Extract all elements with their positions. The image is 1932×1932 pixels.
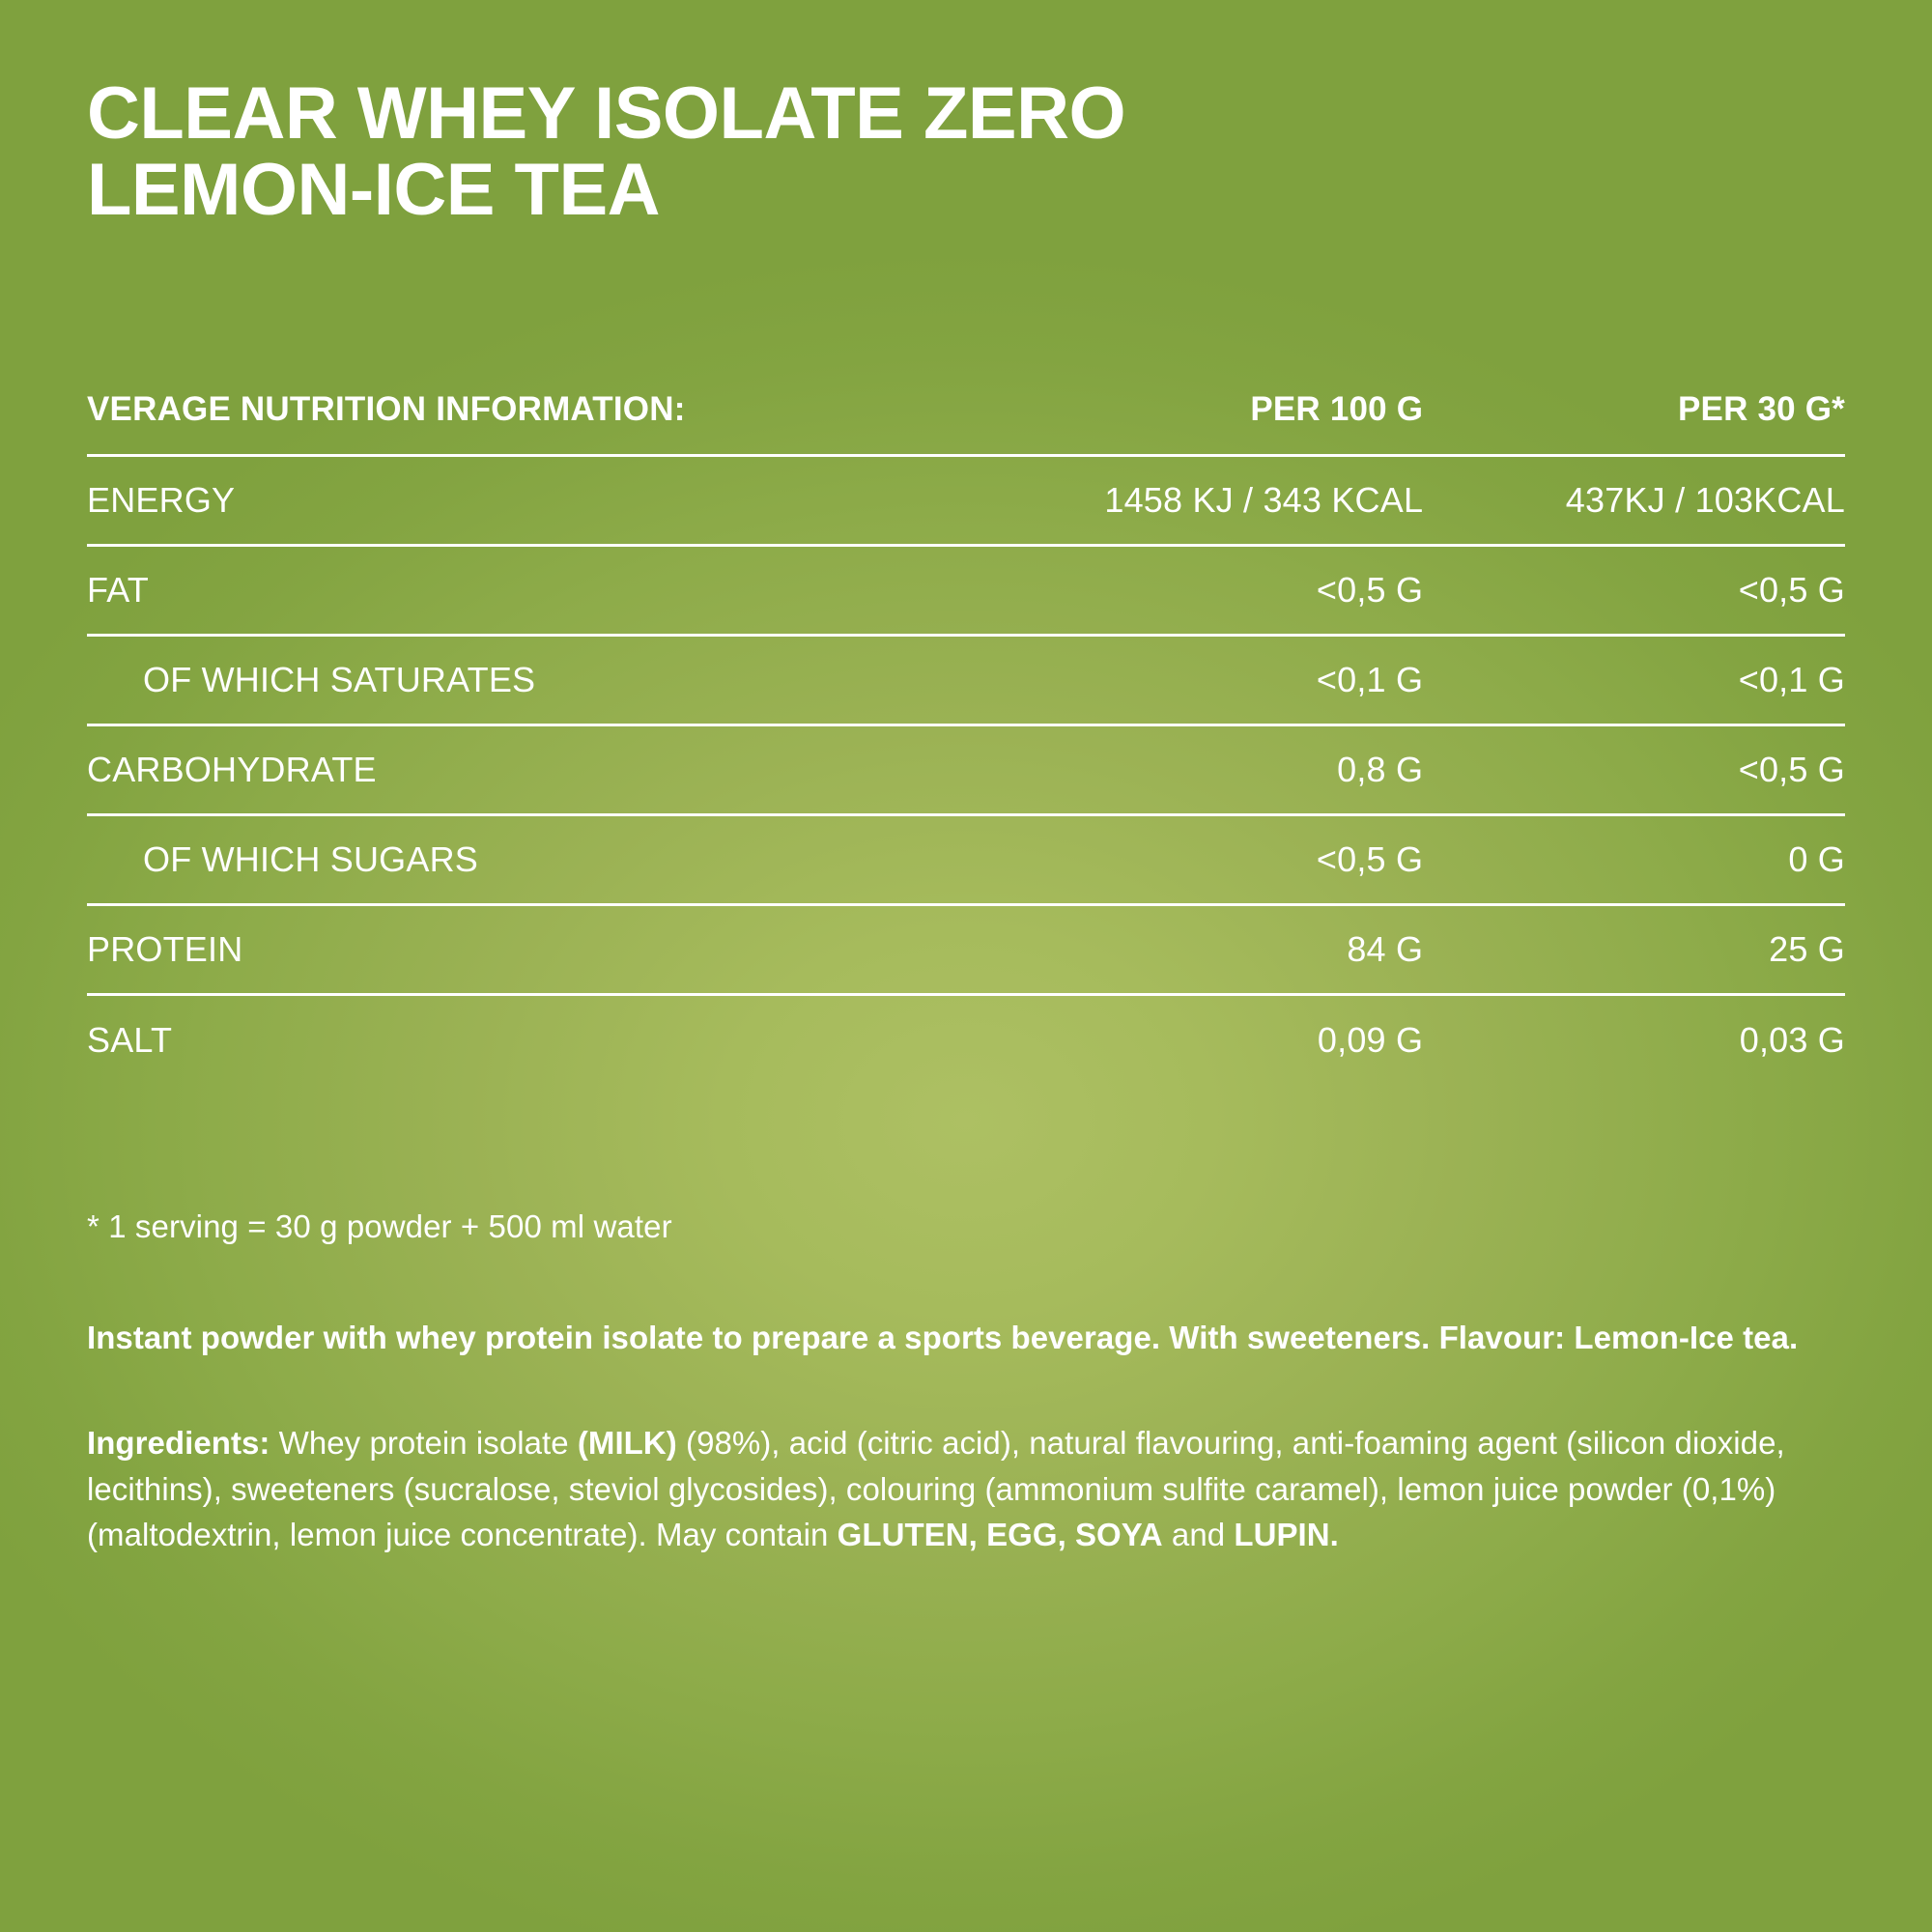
nutrition-table: VERAGE NUTRITION INFORMATION: PER 100 G … [87, 390, 1845, 1085]
nutrient-name: SALT [87, 995, 1001, 1085]
nutrient-value-per-serving: <0,5 G [1423, 546, 1845, 636]
serving-note: * 1 serving = 30 g powder + 500 ml water [87, 1208, 1845, 1245]
nutrition-label-panel: CLEAR WHEY ISOLATE ZERO LEMON-ICE TEA VE… [0, 0, 1932, 1932]
nutrient-name: ENERGY [87, 456, 1001, 546]
nutrient-value-per-100g: 0,8 G [1001, 725, 1423, 815]
ingredient-text: and [1163, 1517, 1235, 1552]
ingredient-emphasis: GLUTEN, EGG, SOYA [838, 1517, 1163, 1552]
column-header-per-serving: PER 30 G* [1423, 390, 1845, 456]
nutrient-name: PROTEIN [87, 905, 1001, 995]
table-header-row: VERAGE NUTRITION INFORMATION: PER 100 G … [87, 390, 1845, 456]
nutrient-value-per-serving: 25 G [1423, 905, 1845, 995]
table-row: PROTEIN84 G25 G [87, 905, 1845, 995]
nutrition-table-body: ENERGY1458 KJ / 343 KCAL437KJ / 103KCALF… [87, 456, 1845, 1085]
table-row: CARBOHYDRATE0,8 G<0,5 G [87, 725, 1845, 815]
ingredient-emphasis: LUPIN. [1234, 1517, 1338, 1552]
ingredient-text: Whey protein isolate [270, 1425, 577, 1461]
nutrient-value-per-serving: <0,5 G [1423, 725, 1845, 815]
table-row: SALT0,09 G0,03 G [87, 995, 1845, 1085]
table-row: OF WHICH SUGARS<0,5 G0 G [87, 815, 1845, 905]
nutrient-value-per-100g: <0,5 G [1001, 546, 1423, 636]
nutrient-value-per-100g: <0,1 G [1001, 636, 1423, 725]
nutrient-name: FAT [87, 546, 1001, 636]
table-row: ENERGY1458 KJ / 343 KCAL437KJ / 103KCAL [87, 456, 1845, 546]
column-header-per-100g: PER 100 G [1001, 390, 1423, 456]
nutrient-name: CARBOHYDRATE [87, 725, 1001, 815]
nutrient-value-per-100g: 0,09 G [1001, 995, 1423, 1085]
ingredients-list: Ingredients: Whey protein isolate (MILK)… [87, 1420, 1845, 1558]
nutrient-value-per-100g: 84 G [1001, 905, 1423, 995]
column-header-nutrient: VERAGE NUTRITION INFORMATION: [87, 390, 1001, 456]
table-row: OF WHICH SATURATES<0,1 G<0,1 G [87, 636, 1845, 725]
page-title: CLEAR WHEY ISOLATE ZERO LEMON-ICE TEA [87, 0, 1845, 228]
nutrient-value-per-100g: 1458 KJ / 343 KCAL [1001, 456, 1423, 546]
nutrient-name: OF WHICH SATURATES [87, 636, 1001, 725]
table-row: FAT<0,5 G<0,5 G [87, 546, 1845, 636]
nutrient-value-per-serving: <0,1 G [1423, 636, 1845, 725]
nutrient-value-per-serving: 437KJ / 103KCAL [1423, 456, 1845, 546]
nutrient-value-per-100g: <0,5 G [1001, 815, 1423, 905]
product-description: Instant powder with whey protein isolate… [87, 1315, 1835, 1361]
nutrient-value-per-serving: 0 G [1423, 815, 1845, 905]
ingredient-emphasis: (MILK) [578, 1425, 677, 1461]
nutrient-name: OF WHICH SUGARS [87, 815, 1001, 905]
nutrient-value-per-serving: 0,03 G [1423, 995, 1845, 1085]
ingredient-emphasis: Ingredients: [87, 1425, 270, 1461]
